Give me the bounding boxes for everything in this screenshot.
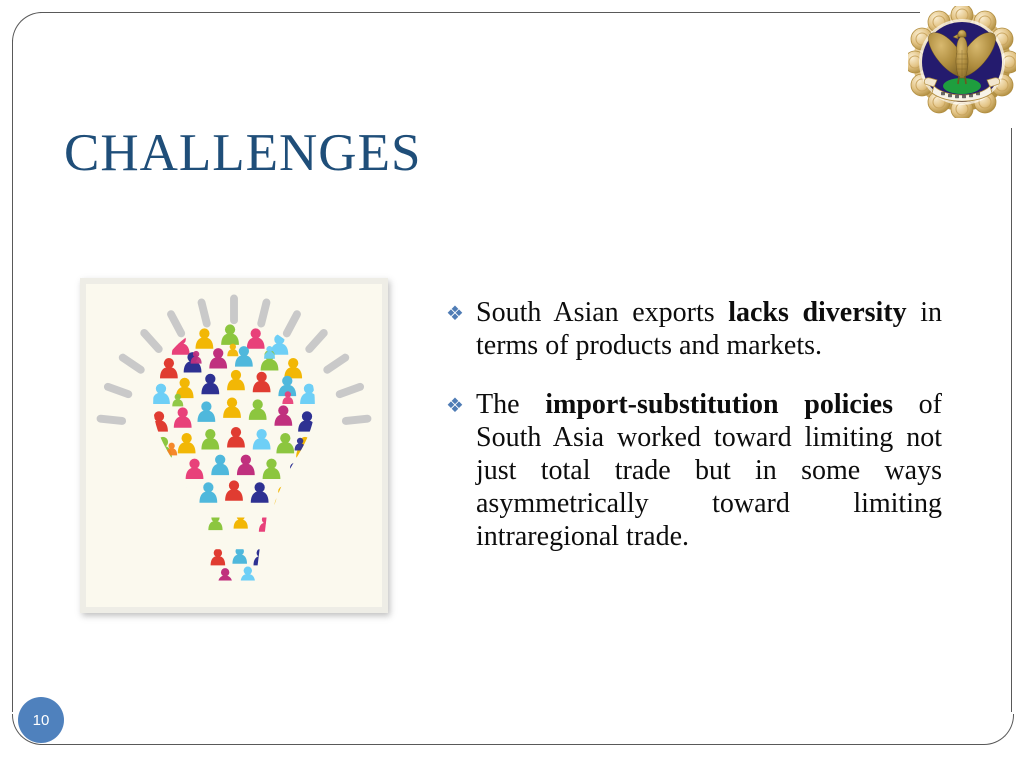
bullet-text-2: The import-substitution policies of Sout… — [476, 389, 942, 552]
diamond-bullet-icon: ❖ — [446, 300, 464, 328]
frame-line-top — [40, 12, 920, 13]
frame-corner-bottom-right — [983, 714, 1014, 745]
icai-logo-icon — [908, 6, 1016, 118]
frame-line-right — [1011, 128, 1012, 712]
frame-line-bottom — [40, 744, 984, 745]
list-item: ❖ The import-substitution policies of So… — [446, 388, 942, 553]
frame-line-left — [12, 40, 13, 712]
list-item: ❖ South Asian exports lacks diversity in… — [446, 296, 942, 362]
page-number-badge: 10 — [18, 697, 64, 743]
slide-title: CHALLENGES — [64, 122, 421, 184]
bullet-list: ❖ South Asian exports lacks diversity in… — [446, 296, 942, 553]
bullet-text-1: South Asian exports lacks diversity in t… — [476, 297, 942, 361]
lightbulb-people-image — [80, 278, 388, 613]
diamond-bullet-icon: ❖ — [446, 392, 464, 420]
frame-corner-top-left — [12, 12, 43, 43]
slide-canvas: CHALLENGES — [0, 0, 1024, 768]
